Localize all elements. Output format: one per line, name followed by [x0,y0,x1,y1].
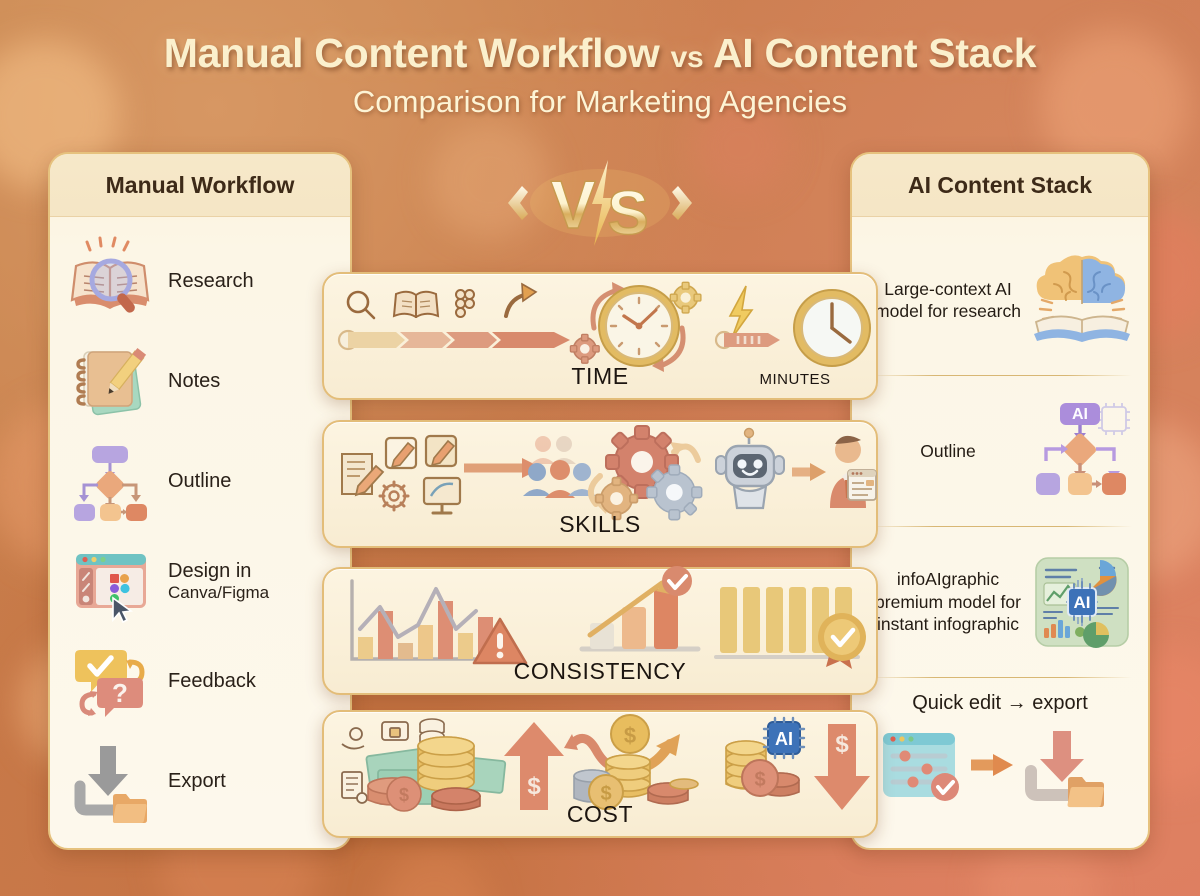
search-icon [348,292,374,318]
book-icon [394,292,438,318]
list-item-label-group: Notes [168,370,220,393]
list-item-label: Large-context AI model for research [866,278,1030,323]
gold-coins-icon [418,737,474,791]
list-item[interactable]: Design in Canva/Figma [50,531,350,631]
messy-chart-icon [352,581,493,659]
gear-icon [570,334,599,363]
list-item[interactable]: infoAIgraphic premium model for instant … [852,527,1148,677]
left-chevron-icon [508,186,528,220]
download-folder-icon [68,738,154,824]
page-subtitle: Comparison for Marketing Agencies [0,84,1200,120]
monitor-icon [424,478,460,513]
list-item[interactable]: Research [50,231,350,331]
list-item-label: infoAIgraphic premium model for instant … [866,568,1030,635]
comparison-card-cost: $ $ [322,710,878,838]
list-item[interactable]: ? Feedback [50,631,350,731]
svg-text:S: S [607,179,648,248]
title-alt: AI Content Stack [713,30,1036,76]
ai-chip-icon: AI [764,718,804,758]
list-item-label-group: Outline [168,470,231,493]
list-item-label: Quick edit → export [912,691,1088,717]
list-item-label: Notes [168,370,220,393]
list-item-sublabel: Canva/Figma [168,583,269,603]
ai-dashboard-icon: AI [1030,550,1134,654]
list-item-label: Outline [168,470,231,493]
page-title: Manual Content Workflow vs AI Content St… [0,30,1200,120]
down-arrow-dollar-icon: $ [814,724,870,810]
svg-text:$: $ [624,723,636,748]
card-caption: SKILLS [324,511,876,538]
list-item-label: Outline [866,440,1030,462]
lightning-icon [730,286,752,338]
title-main: Manual Content Workflow [164,30,660,76]
hand-coin-icon [342,728,364,749]
card-caption: TIME [324,363,876,390]
right-chevron-icon [672,186,692,220]
list-item-label-group: Design in Canva/Figma [168,560,269,603]
document-pen-icon [342,454,383,495]
svg-text:$: $ [835,731,849,758]
list-item-label-group: Research [168,270,254,293]
list-item[interactable]: Export [50,731,350,831]
manual-workflow-header: Manual Workflow [50,154,350,217]
edit-square-icon [426,436,456,466]
edit-export-icon [875,723,1125,815]
brain-book-icon [1030,248,1134,352]
manual-workflow-heading: Manual Workflow [106,172,295,199]
list-item-label: Design in [168,560,269,583]
wallet-icon [382,722,408,740]
ai-content-stack-header: AI Content Stack [852,154,1148,217]
edit-square-icon [386,438,416,468]
svg-text:?: ? [112,678,128,708]
list-item[interactable]: Quick edit → export [852,678,1148,828]
list-item[interactable]: Notes [50,331,350,431]
bokeh-circle [380,850,490,896]
manual-workflow-panel: Manual Workflow [48,152,352,850]
ai-content-stack-panel: AI Content Stack Large-context AI model … [850,152,1150,850]
comparison-card-time: MINUTES TIME [322,272,878,400]
person-screen-icon [830,436,876,508]
arrow-right-icon [792,463,826,481]
svg-text:$: $ [527,773,541,800]
svg-text:V: V [550,167,595,243]
figma-icon [456,290,474,317]
title-vs: vs [671,41,704,74]
list-item-label: Feedback [168,670,256,693]
ai-flowchart-icon: AI [1030,399,1134,503]
list-item[interactable]: Large-context AI model for research [852,225,1148,375]
list-item[interactable]: Outline [50,431,350,531]
svg-text:AI: AI [1072,406,1088,423]
chat-bubbles-icon: ? [68,638,154,724]
robot-icon [716,429,784,509]
progress-chevrons [339,331,570,349]
design-window-icon [68,538,154,624]
magnifier-book-icon [68,238,154,324]
share-arrow-icon [506,284,536,316]
list-item-label-group: Feedback [168,670,256,693]
ai-content-stack-list: Large-context AI model for research [852,217,1148,828]
fast-clock-icon [794,290,870,366]
gear-icon [380,482,408,510]
notebook-pencil-icon [68,338,154,424]
card-caption: CONSISTENCY [324,658,876,685]
list-item[interactable]: Outline AI [852,376,1148,526]
comparison-card-skills: SKILLS [322,420,878,548]
list-item-label-group: Export [168,770,226,793]
comparison-card-consistency: CONSISTENCY [322,567,878,695]
svg-text:AI: AI [1074,593,1091,612]
list-item-label: Research [168,270,254,293]
list-item-label: Export [168,770,226,793]
document-icon [342,772,367,803]
up-arrow-dollar-icon: $ [504,722,564,810]
svg-text:AI: AI [775,729,793,749]
flowchart-icon [68,438,154,524]
manual-workflow-list: Research [50,217,350,831]
svg-text:$: $ [754,769,765,791]
card-caption: COST [324,801,876,828]
clock-icon [599,286,679,366]
vs-badge: V S [500,158,700,248]
title-line: Manual Content Workflow vs AI Content St… [0,30,1200,77]
progress-short [716,332,780,348]
ai-content-stack-heading: AI Content Stack [908,172,1092,199]
